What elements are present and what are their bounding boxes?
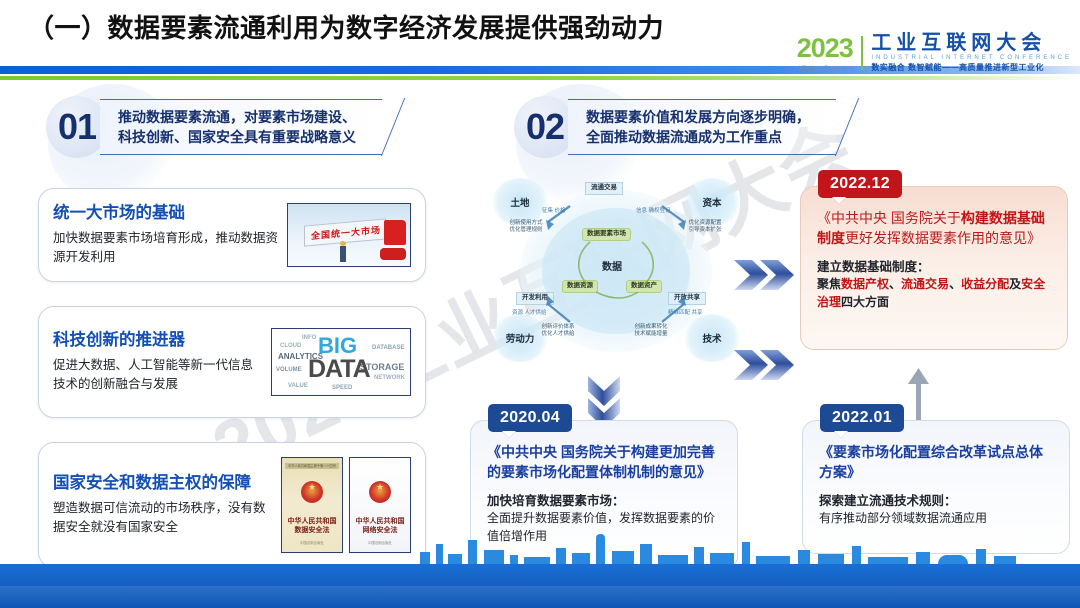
card-national-security-body: 塑造数据可信流动的市场秩序，没有数据安全就没有国家安全: [53, 499, 273, 537]
timeline-2020-04-title: 《中共中央 国务院关于构建更加完善的要素市场化配置体制机制的意见》: [487, 443, 721, 482]
section-01-number: 01: [58, 109, 96, 145]
section-01-band: 推动数据要素流通，对要素市场建设、 科技创新、国家安全具有重要战略意义: [100, 99, 382, 156]
book-a-footer: 中国法制出版社: [300, 540, 324, 545]
card-national-security[interactable]: 国家安全和数据主权的保障 塑造数据可信流动的市场秩序，没有数据安全就没有国家安全…: [38, 442, 426, 568]
data-element-ecosystem-diagram: 土地 资本 劳动力 技术 流通交易 开发利用 开放共享 数据要素市场 数据资源 …: [486, 176, 746, 366]
logo-main-title: 工业互联网大会: [871, 33, 1072, 54]
card-unified-market-title: 统一大市场的基础: [53, 203, 279, 224]
card-tech-innovation-title: 科技创新的推进器: [53, 330, 263, 351]
skyline-tower-21: [868, 557, 908, 564]
timeline-tag-2022-12: 2022.12: [818, 170, 902, 198]
logo-tagline: 数实融合 数智赋能——高质量推进新型工业化: [871, 62, 1072, 73]
card-tech-innovation-text: 科技创新的推进器 促进大数据、人工智能等新一代信息技术的创新融合与发展: [53, 330, 263, 393]
skyline-tower-23: [938, 555, 968, 564]
timeline-2020-04-subtitle: 加快培育数据要素市场：: [487, 492, 721, 510]
big-data-wordcloud-image: ANALYTICS CLOUD INFO VOLUME STORAGE DATA…: [271, 328, 411, 396]
header-band-green: [0, 76, 1080, 80]
timeline-2022-01-body: 有序推动部分领域数据流通应用: [819, 510, 1053, 527]
truck-unified-market-image: 全国统一大市场: [287, 203, 411, 267]
book-a-topbar: 中华人民共和国主席令第八十四号: [285, 463, 339, 469]
book-b-topbar: [353, 463, 407, 469]
wordcloud-word-big: BIG: [318, 335, 357, 357]
logo-divider: [861, 36, 863, 70]
wordcloud-word-database: DATABASE: [372, 345, 404, 351]
card-unified-market-text: 统一大市场的基础 加快数据要素市场培育形成，推动数据资源开发利用: [53, 203, 279, 266]
wordcloud-word-speed: SPEED: [332, 385, 352, 391]
national-emblem-icon: [301, 481, 323, 503]
national-emblem-icon-2: [369, 481, 391, 503]
skyline-tower-3: [448, 554, 462, 564]
section-02-band: 数据要素价值和发展方向逐步明确， 全面推动数据流通成为工作重点: [568, 99, 836, 156]
timeline-card-2022-01[interactable]: 2022.01 《要素市场化配置综合改革试点总体方案》 探索建立流通技术规则： …: [802, 404, 1070, 554]
slide-root: （一）数据要素流通利用为数字经济发展提供强劲动力 2023 中国·苏州 8月14…: [0, 0, 1080, 608]
wordcloud-word-volume: VOLUME: [276, 367, 302, 373]
truck-cab-shape: [384, 220, 406, 245]
card-unified-market-body: 加快数据要素市场培育形成，推动数据资源开发利用: [53, 229, 279, 267]
page-title: （一）数据要素流通利用为数字经济发展提供强劲动力: [28, 8, 664, 45]
eco-flow-arrows: [486, 176, 746, 366]
card-national-security-title: 国家安全和数据主权的保障: [53, 473, 273, 494]
timeline-2022-01-subtitle: 探索建立流通技术规则：: [819, 492, 1053, 510]
skyline-tower-17: [756, 556, 790, 564]
book-b-title: 中华人民共和国 网络安全法: [356, 517, 405, 536]
double-chevron-right-icon-2: [732, 348, 798, 387]
timeline-2022-01-title: 《要素市场化配置综合改革试点总体方案》: [819, 443, 1053, 482]
section-header-02: 02 数据要素价值和发展方向逐步明确， 全面推动数据流通成为工作重点: [514, 96, 836, 158]
book-b-footer: 中国法制出版社: [368, 540, 392, 545]
skyline-tower-16: [742, 542, 750, 564]
section-01-line2: 科技创新、国家安全具有重要战略意义: [118, 127, 356, 147]
timeline-tag-2022-01: 2022.01: [820, 404, 904, 432]
wordcloud-word-network: NETWORK: [374, 375, 405, 381]
truck-car-shape: [380, 248, 406, 260]
timeline-2022-12-title: 《中共中央 国务院关于构建数据基础制度更好发挥数据要素作用的意见》: [817, 209, 1051, 248]
conference-logo: 2023 中国·苏州 8月14日-16日 工业互联网大会 INDUSTRIAL …: [797, 33, 1072, 73]
timeline-body-2020-04: 《中共中央 国务院关于构建更加完善的要素市场化配置体制机制的意见》 加快培育数据…: [470, 420, 738, 570]
section-02-circle: 02: [514, 96, 576, 158]
card-tech-innovation-body: 促进大数据、人工智能等新一代信息技术的创新融合与发展: [53, 356, 263, 394]
wordcloud-word-cloud: CLOUD: [280, 343, 301, 349]
skyline-tower-25: [994, 556, 1016, 564]
timeline-card-2022-12[interactable]: 2022.12 《中共中央 国务院关于构建数据基础制度更好发挥数据要素作用的意见…: [800, 170, 1068, 350]
timeline-2020-04-body: 全面提升数据要素价值，发挥数据要素的价值倍增作用: [487, 510, 721, 545]
skyline-tower-2: [436, 544, 443, 564]
timeline-2022-12-subtitle: 建立数据基础制度：: [817, 258, 1051, 276]
card-unified-market[interactable]: 统一大市场的基础 加快数据要素市场培育形成，推动数据资源开发利用 全国统一大市场: [38, 188, 426, 282]
logo-year: 2023: [797, 35, 854, 62]
logo-year-block: 2023 中国·苏州 8月14日-16日: [797, 35, 854, 72]
timeline-body-2022-12: 《中共中央 国务院关于构建数据基础制度更好发挥数据要素作用的意见》 建立数据基础…: [800, 186, 1068, 350]
card-tech-innovation[interactable]: 科技创新的推进器 促进大数据、人工智能等新一代信息技术的创新融合与发展 ANAL…: [38, 306, 426, 418]
timeline-2022-12-body: 聚焦数据产权、流通交易、收益分配及安全治理四大方面: [817, 276, 1051, 311]
wordcloud-word-value: VALUE: [288, 383, 308, 389]
book-data-security-law: 中华人民共和国主席令第八十四号 中华人民共和国 数据安全法 中国法制出版社: [281, 457, 343, 553]
skyline-tower-19: [818, 554, 844, 564]
double-chevron-right-icon: [732, 258, 798, 297]
book-network-security-law: 中华人民共和国 网络安全法 中国法制出版社: [349, 457, 411, 553]
section-02-line2: 全面推动数据流通成为工作重点: [586, 127, 810, 147]
wordcloud-word-info: INFO: [302, 335, 316, 341]
timeline-tag-2020-04: 2020.04: [488, 404, 572, 432]
timeline-card-2020-04[interactable]: 2020.04 《中共中央 国务院关于构建更加完善的要素市场化配置体制机制的意见…: [470, 404, 738, 570]
security-law-books-image: 中华人民共和国主席令第八十四号 中华人民共和国 数据安全法 中国法制出版社 中华…: [281, 457, 411, 553]
section-01-circle: 01: [46, 96, 108, 158]
card-national-security-text: 国家安全和数据主权的保障 塑造数据可信流动的市场秩序，没有数据安全就没有国家安全: [53, 473, 273, 536]
section-02-line1: 数据要素价值和发展方向逐步明确，: [586, 107, 810, 127]
logo-text-block: 工业互联网大会 INDUSTRIAL INTERNET CONFERENCE 数…: [871, 33, 1072, 73]
section-header-01: 01 推动数据要素流通，对要素市场建设、 科技创新、国家安全具有重要战略意义: [46, 96, 382, 158]
bottom-blue-band: [0, 564, 1080, 608]
truck-person-shape: [340, 246, 346, 262]
section-02-number: 02: [526, 109, 564, 145]
bottom-band-highlight: [0, 586, 1080, 608]
logo-english-subtitle: INDUSTRIAL INTERNET CONFERENCE: [871, 55, 1072, 61]
timeline-body-2022-01: 《要素市场化配置综合改革试点总体方案》 探索建立流通技术规则： 有序推动部分领域…: [802, 420, 1070, 554]
logo-year-subtitle: 中国·苏州 8月14日-16日: [797, 65, 854, 72]
wordcloud-word-data: DATA: [308, 357, 370, 382]
section-01-line1: 推动数据要素流通，对要素市场建设、: [118, 107, 356, 127]
book-a-title: 中华人民共和国 数据安全法: [288, 517, 337, 536]
